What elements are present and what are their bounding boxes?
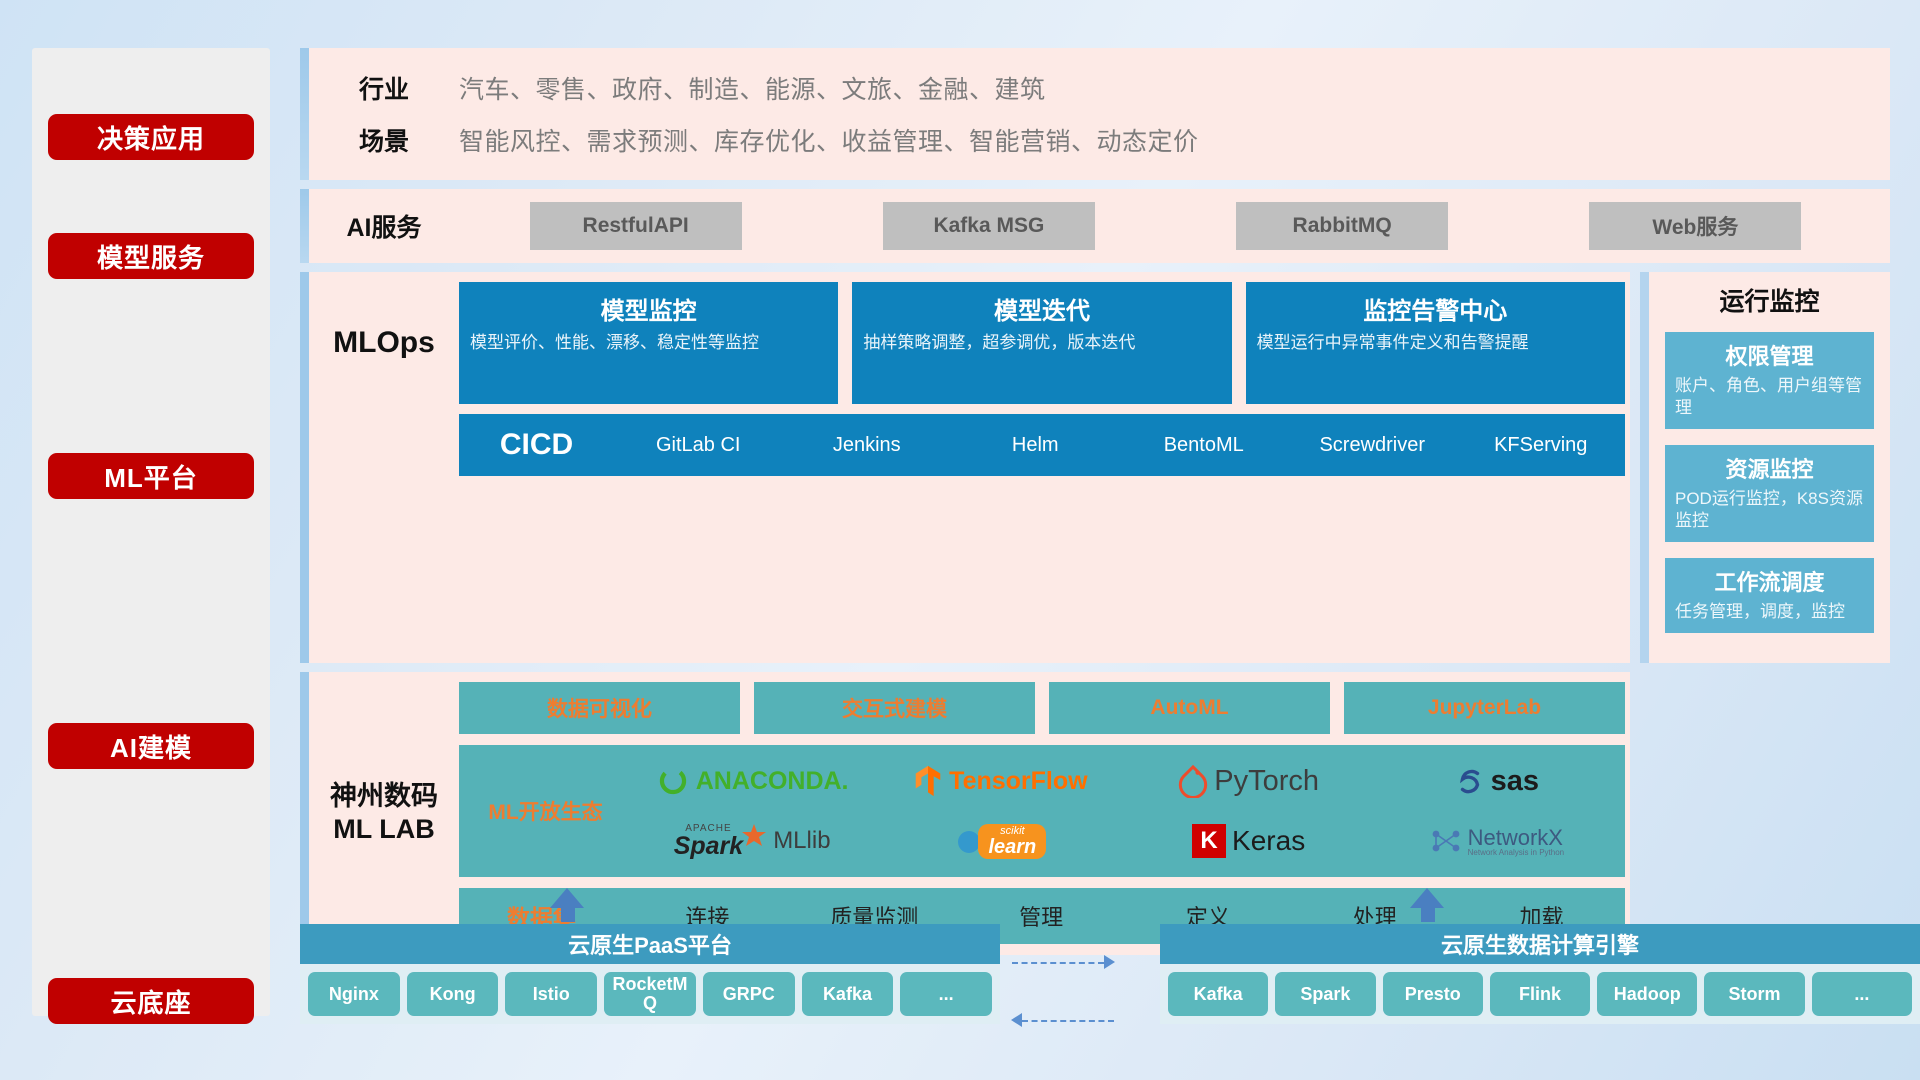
arrow-up-compute-icon	[1410, 888, 1444, 908]
rail-label: 云底座	[110, 983, 191, 1020]
rail-item-ai-modeling[interactable]: AI建模	[48, 723, 254, 769]
lab-tool-automl[interactable]: AutoML	[1049, 682, 1330, 734]
mlops-card-title: 监控告警中心	[1257, 291, 1614, 326]
networkx-icon	[1430, 826, 1462, 856]
logo-spark-mllib[interactable]: APACHE Spark MLlib	[628, 823, 876, 859]
rail-label: AI建模	[110, 728, 192, 765]
logo-tensorflow-text: TensorFlow	[949, 767, 1087, 796]
monitoring-title: 运行监控	[1665, 282, 1874, 318]
rail-label: 模型服务	[97, 238, 205, 275]
ai-service-card-kafka-msg[interactable]: Kafka MSG	[883, 202, 1095, 250]
mlops-label: MLOps	[309, 282, 459, 404]
paas-chip-rocketmq[interactable]: RocketMQ	[604, 972, 696, 1016]
dash-arrow-right-icon	[1104, 955, 1115, 969]
paas-chip-istio[interactable]: Istio	[505, 972, 597, 1016]
compute-chip-kafka[interactable]: Kafka	[1168, 972, 1268, 1016]
scenario-value: 智能风控、需求预测、库存优化、收益管理、智能营销、动态定价	[459, 122, 1199, 158]
rail-label: 决策应用	[97, 119, 205, 156]
cicd-item-gitlab-ci[interactable]: GitLab CI	[614, 435, 783, 456]
cloud-foundation-zone: 云原生PaaS平台 Nginx Kong Istio RocketMQ GRPC…	[300, 900, 1920, 1060]
paas-chip-kong[interactable]: Kong	[407, 972, 499, 1016]
arrow-stem-paas	[561, 908, 575, 922]
compute-chip-hadoop[interactable]: Hadoop	[1597, 972, 1697, 1016]
rail-item-model-service[interactable]: 模型服务	[48, 233, 254, 279]
ai-card-label: RabbitMQ	[1293, 214, 1392, 238]
monitor-card-desc: 账户、角色、用户组等管理	[1675, 375, 1864, 419]
main-stack: 行业 汽车、零售、政府、制造、能源、文旅、金融、建筑 场景 智能风控、需求预测、…	[300, 48, 1890, 955]
logo-tensorflow[interactable]: TensorFlow	[876, 764, 1124, 798]
industry-label: 行业	[309, 70, 459, 106]
tensorflow-icon	[913, 764, 943, 798]
ai-service-card-rabbitmq[interactable]: RabbitMQ	[1236, 202, 1448, 250]
spark-word-text: Spark	[674, 834, 743, 859]
scenario-label: 场景	[309, 122, 459, 158]
rail-item-cloud-base[interactable]: 云底座	[48, 978, 254, 1024]
cicd-title: CICD	[459, 428, 614, 462]
logo-sas-text: sas	[1491, 765, 1539, 798]
compute-chip-more[interactable]: ...	[1812, 972, 1912, 1016]
cicd-item-jenkins[interactable]: Jenkins	[783, 435, 952, 456]
ai-service-card-restfulapi[interactable]: RestfulAPI	[530, 202, 742, 250]
dash-connector-top	[1012, 962, 1104, 964]
logo-learn-text: learn	[988, 837, 1036, 857]
ai-card-label: RestfulAPI	[583, 214, 689, 238]
keras-icon: K	[1192, 824, 1226, 858]
ml-lab-label-line1: 神州数码	[330, 780, 438, 814]
anaconda-icon	[656, 764, 690, 798]
monitor-card-title: 工作流调度	[1675, 565, 1864, 597]
logo-anaconda-text: ANACONDA.	[696, 767, 849, 796]
paas-chip-grpc[interactable]: GRPC	[703, 972, 795, 1016]
spark-star-icon	[741, 823, 767, 849]
cloud-native-paas-block: 云原生PaaS平台 Nginx Kong Istio RocketMQ GRPC…	[300, 924, 1000, 1024]
mlops-card-desc: 模型运行中异常事件定义和告警提醒	[1257, 332, 1614, 354]
mlops-zone: MLOps 模型监控 模型评价、性能、漂移、稳定性等监控 模型迭代 抽样策略调整…	[300, 272, 1890, 663]
eco-label: ML开放生态	[463, 751, 628, 871]
cloud-native-compute-block: 云原生数据计算引擎 Kafka Spark Presto Flink Hadoo…	[1160, 924, 1920, 1024]
cicd-item-bentoml[interactable]: BentoML	[1120, 435, 1289, 456]
monitor-card-permission[interactable]: 权限管理 账户、角色、用户组等管理	[1665, 332, 1874, 429]
rail-label: ML平台	[104, 458, 198, 495]
arrow-stem-compute	[1421, 908, 1435, 922]
lab-tool-interactive-modeling[interactable]: 交互式建模	[754, 682, 1035, 734]
compute-chip-spark[interactable]: Spark	[1275, 972, 1375, 1016]
pytorch-icon	[1178, 764, 1208, 798]
compute-chip-row: Kafka Spark Presto Flink Hadoop Storm ..…	[1160, 964, 1920, 1024]
compute-title: 云原生数据计算引擎	[1160, 924, 1920, 964]
lab-tool-data-visualization[interactable]: 数据可视化	[459, 682, 740, 734]
mlops-card-model-monitoring[interactable]: 模型监控 模型评价、性能、漂移、稳定性等监控	[459, 282, 838, 404]
logo-keras-text: Keras	[1232, 825, 1305, 857]
ml-lab-tools: 数据可视化 交互式建模 AutoML JupyterLab	[459, 682, 1625, 734]
ml-lab-label-line2: ML LAB	[333, 813, 435, 847]
mlops-card-desc: 模型评价、性能、漂移、稳定性等监控	[470, 332, 827, 354]
logo-sas[interactable]: sas	[1373, 765, 1621, 798]
logo-pytorch[interactable]: PyTorch	[1125, 764, 1373, 798]
cicd-item-screwdriver[interactable]: Screwdriver	[1288, 435, 1457, 456]
cicd-bar: CICD GitLab CI Jenkins Helm BentoML Scre…	[459, 414, 1625, 476]
logo-mllib-text: MLlib	[773, 827, 830, 855]
ai-service-band: AI服务 RestfulAPI Kafka MSG RabbitMQ Web服务	[300, 189, 1890, 263]
ai-service-card-web[interactable]: Web服务	[1589, 202, 1801, 250]
business-band: 行业 汽车、零售、政府、制造、能源、文旅、金融、建筑 场景 智能风控、需求预测、…	[300, 48, 1890, 180]
mlops-card-title: 模型监控	[470, 291, 827, 326]
mlops-card-title: 模型迭代	[863, 291, 1220, 326]
ml-open-ecosystem: ML开放生态 ANACONDA.	[459, 745, 1625, 877]
business-rows: 行业 汽车、零售、政府、制造、能源、文旅、金融、建筑 场景 智能风控、需求预测、…	[309, 48, 1890, 180]
ai-card-label: Kafka MSG	[933, 214, 1044, 238]
compute-chip-presto[interactable]: Presto	[1383, 972, 1483, 1016]
monitor-card-title: 权限管理	[1675, 339, 1864, 371]
logo-networkx-text: NetworkX	[1468, 826, 1565, 849]
networkx-subtitle: Network Analysis in Python	[1468, 849, 1565, 857]
industry-row: 行业 汽车、零售、政府、制造、能源、文旅、金融、建筑	[309, 62, 1890, 114]
logo-networkx[interactable]: NetworkX Network Analysis in Python	[1373, 826, 1621, 857]
mlops-card-desc: 抽样策略调整，超参调优，版本迭代	[863, 332, 1220, 354]
cicd-item-kfserving[interactable]: KFServing	[1457, 435, 1626, 456]
diagram-canvas: 决策应用 模型服务 ML平台 AI建模 云底座 行业 汽车、零售、政府、制造、能…	[0, 0, 1920, 1080]
logo-scikit-learn[interactable]: scikit learn	[876, 824, 1124, 859]
compute-chip-flink[interactable]: Flink	[1490, 972, 1590, 1016]
dash-connector-bottom	[1022, 1020, 1114, 1022]
dash-arrow-left-icon	[1011, 1013, 1022, 1027]
logo-keras[interactable]: K Keras	[1125, 824, 1373, 858]
monitor-card-desc: POD运行监控，K8S资源监控	[1675, 488, 1864, 532]
mlops-band: MLOps 模型监控 模型评价、性能、漂移、稳定性等监控 模型迭代 抽样策略调整…	[300, 272, 1630, 663]
paas-chip-nginx[interactable]: Nginx	[308, 972, 400, 1016]
monitor-card-desc: 任务管理，调度，监控	[1675, 601, 1864, 623]
logo-anaconda[interactable]: ANACONDA.	[628, 764, 876, 798]
mlops-card-model-iteration[interactable]: 模型迭代 抽样策略调整，超参调优，版本迭代	[852, 282, 1231, 404]
sas-icon	[1455, 766, 1485, 796]
left-layer-rail: 决策应用 模型服务 ML平台 AI建模 云底座	[32, 48, 270, 1016]
rail-item-decision-app[interactable]: 决策应用	[48, 114, 254, 160]
paas-chip-more[interactable]: ...	[900, 972, 992, 1016]
industry-value: 汽车、零售、政府、制造、能源、文旅、金融、建筑	[459, 70, 1046, 106]
ai-card-label: Web服务	[1652, 211, 1738, 241]
compute-chip-storm[interactable]: Storm	[1704, 972, 1804, 1016]
mlops-card-alert-center[interactable]: 监控告警中心 模型运行中异常事件定义和告警提醒	[1246, 282, 1625, 404]
arrow-up-paas-icon	[550, 888, 584, 908]
logo-pytorch-text: PyTorch	[1214, 765, 1319, 798]
monitor-card-resource[interactable]: 资源监控 POD运行监控，K8S资源监控	[1665, 445, 1874, 542]
monitor-card-title: 资源监控	[1675, 452, 1864, 484]
scenario-row: 场景 智能风控、需求预测、库存优化、收益管理、智能营销、动态定价	[309, 114, 1890, 166]
rail-item-ml-platform[interactable]: ML平台	[48, 453, 254, 499]
lab-tool-jupyterlab[interactable]: JupyterLab	[1344, 682, 1625, 734]
runtime-monitoring-column: 运行监控 权限管理 账户、角色、用户组等管理 资源监控 POD运行监控，K8S资…	[1640, 272, 1890, 663]
monitor-card-workflow[interactable]: 工作流调度 任务管理，调度，监控	[1665, 558, 1874, 633]
paas-title: 云原生PaaS平台	[300, 924, 1000, 964]
paas-chip-kafka[interactable]: Kafka	[802, 972, 894, 1016]
cicd-item-helm[interactable]: Helm	[951, 435, 1120, 456]
ai-service-label: AI服务	[309, 208, 459, 244]
paas-chip-row: Nginx Kong Istio RocketMQ GRPC Kafka ...	[300, 964, 1000, 1024]
